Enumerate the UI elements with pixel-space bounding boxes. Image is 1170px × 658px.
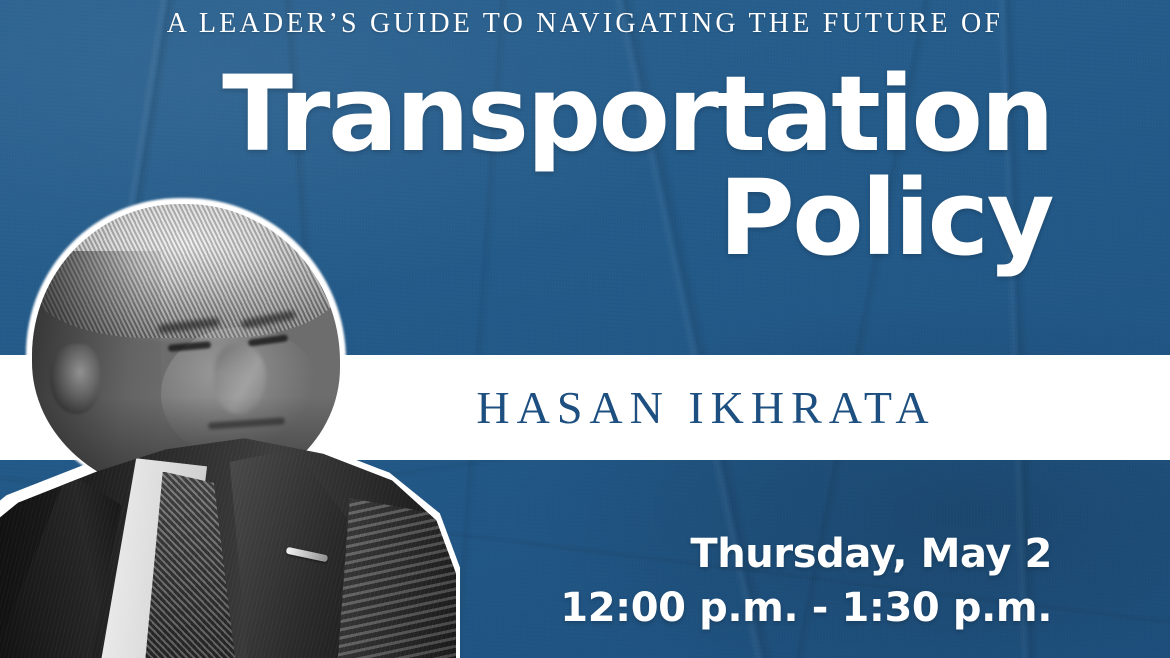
event-date: Thursday, May 2 [0, 528, 1052, 582]
kicker-headline: A LEADER’S GUIDE TO NAVIGATING THE FUTUR… [0, 8, 1170, 40]
event-time: 12:00 p.m. - 1:30 p.m. [0, 582, 1052, 636]
speaker-name: HASAN IKHRATA [0, 355, 1052, 460]
event-promo-poster: A LEADER’S GUIDE TO NAVIGATING THE FUTUR… [0, 0, 1170, 658]
event-datetime: Thursday, May 2 12:00 p.m. - 1:30 p.m. [0, 528, 1052, 635]
